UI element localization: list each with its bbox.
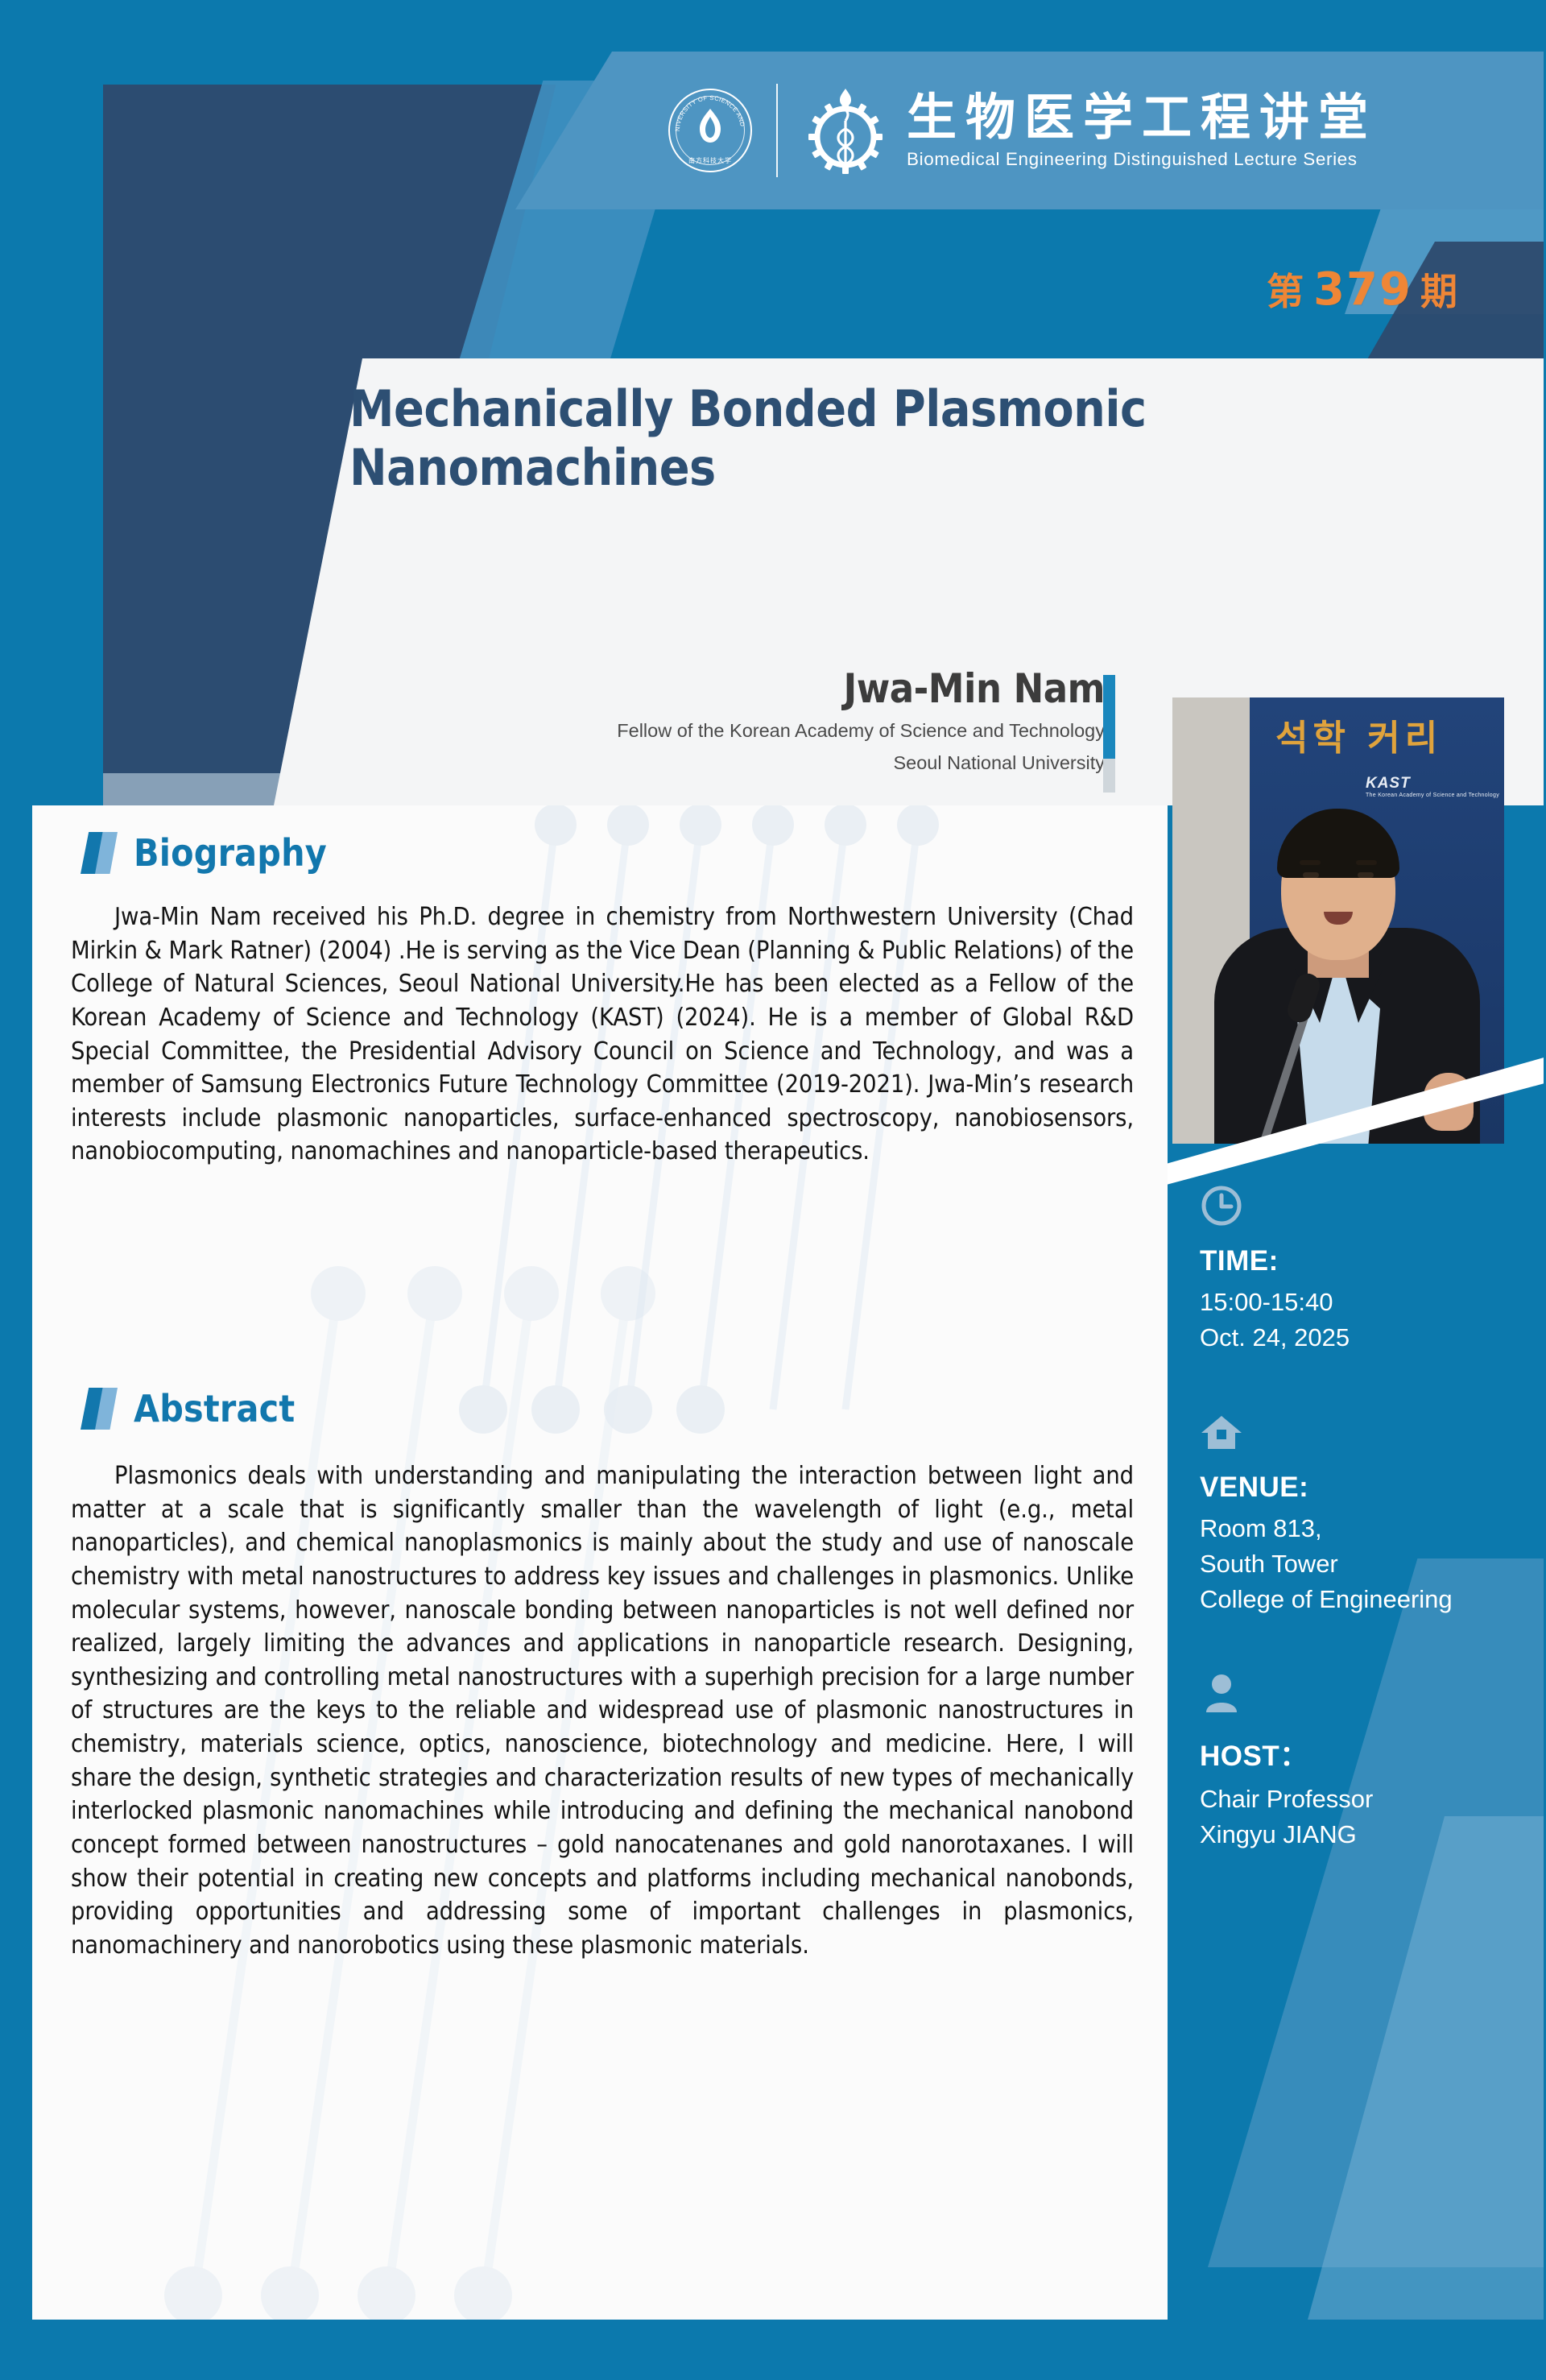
biography-heading-label: Biography [134,831,327,875]
venue-value-2: South Tower [1200,1546,1538,1582]
sustech-seal-icon: SOUTHERN UNIVERSITY OF SCIENCE AND TECHN… [668,89,752,172]
lecture-poster: SOUTHERN UNIVERSITY OF SCIENCE AND TECHN… [0,0,1546,2380]
host-value-1: Chair Professor [1200,1782,1538,1817]
time-block: TIME: 15:00-15:40 Oct. 24, 2025 [1200,1184,1538,1356]
header-subtitle-en: Biomedical Engineering Distinguished Lec… [907,149,1377,170]
time-label: TIME: [1200,1245,1538,1277]
host-value-2: Xingyu JIANG [1200,1817,1538,1852]
venue-block: VENUE: Room 813, South Tower College of … [1200,1410,1538,1617]
header-divider [776,84,778,177]
photo-kast-logo: KAST The Korean Academy of Science and T… [1366,775,1499,798]
event-info-sidebar: TIME: 15:00-15:40 Oct. 24, 2025 VENUE: R… [1200,1184,1538,1907]
speaker-affiliation-2: Seoul National University [396,751,1105,776]
speaker-name: Jwa-Min Nam [396,667,1105,711]
photo-banner-korean-text: 석학 커리 [1275,709,1442,760]
speaker-block: Jwa-Min Nam Fellow of the Korean Academy… [396,667,1105,776]
speaker-affiliation-1: Fellow of the Korean Academy of Science … [396,718,1105,743]
issue-suffix: 期 [1420,270,1459,313]
issue-value: 379 [1313,263,1412,316]
bme-gear-caduceus-icon [802,84,889,177]
venue-value-1: Room 813, [1200,1511,1538,1546]
abstract-heading-label: Abstract [134,1387,295,1430]
abstract-heading: Abstract [81,1387,295,1430]
home-icon [1200,1410,1243,1454]
venue-label: VENUE: [1200,1471,1538,1504]
flag-marker-icon [81,832,118,874]
time-value-2: Oct. 24, 2025 [1200,1320,1538,1356]
person-icon [1200,1672,1243,1716]
venue-value-3: College of Engineering [1200,1582,1538,1617]
host-label: HOST： [1200,1733,1538,1774]
bottom-bar [0,2320,1546,2380]
speaker-accent-bar [1103,675,1115,759]
seal-chinese-name: 南方科技大学 [688,156,732,165]
time-value-1: 15:00-15:40 [1200,1285,1538,1320]
biography-text: Jwa-Min Nam received his Ph.D. degree in… [71,900,1134,1169]
biography-heading: Biography [81,831,327,875]
svg-text:SOUTHERN UNIVERSITY OF SCIENCE: SOUTHERN UNIVERSITY OF SCIENCE AND TECHN… [668,89,746,131]
speaker-photo: 석학 커리 KAST The Korean Academy of Science… [1172,697,1504,1144]
lecture-title: Mechanically Bonded Plasmonic Nanomachin… [349,380,1477,497]
issue-number: 第379期 [1267,263,1459,316]
flag-marker-icon [81,1388,118,1430]
clock-icon [1200,1184,1243,1227]
issue-prefix: 第 [1267,270,1305,313]
header-title-cn: 生物医学工程讲堂 [907,91,1377,143]
host-block: HOST： Chair Professor Xingyu JIANG [1200,1672,1538,1852]
abstract-text: Plasmonics deals with understanding and … [71,1459,1134,1962]
header-banner: SOUTHERN UNIVERSITY OF SCIENCE AND TECHN… [515,52,1546,209]
